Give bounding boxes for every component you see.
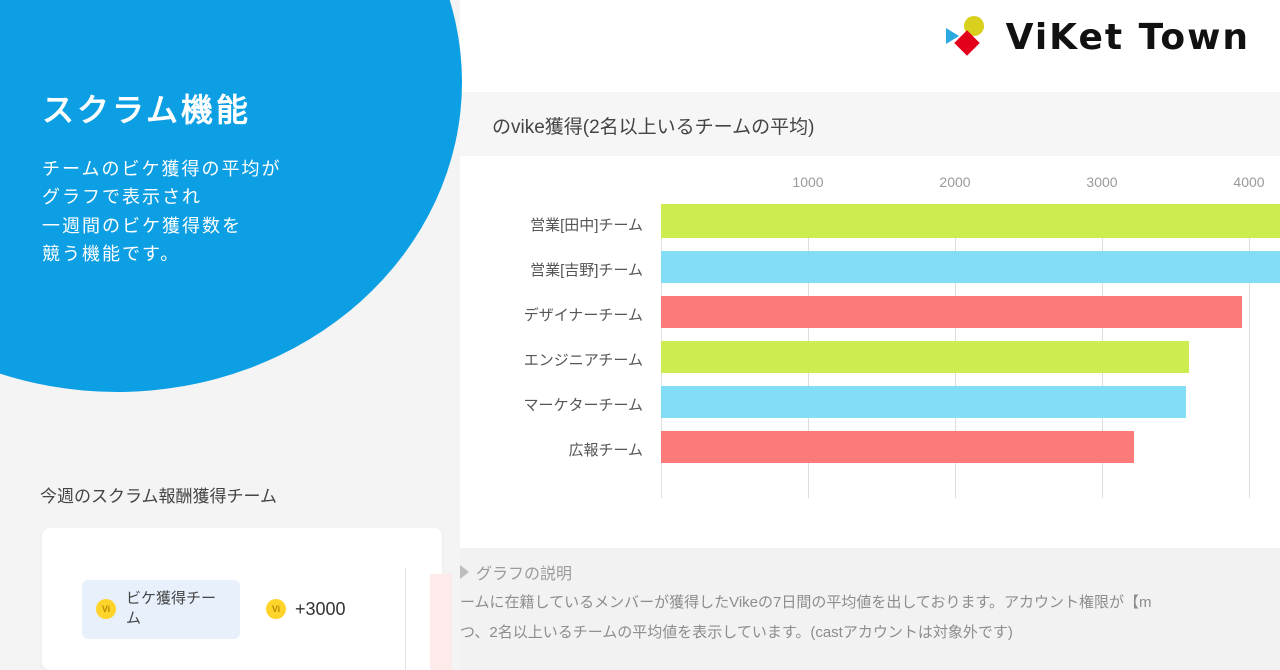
vike-coin-icon: Vi [96,599,116,619]
chart-bar [661,431,1134,463]
chart-bar [661,296,1242,328]
reward-amount-group: Vi +3000 [266,599,346,620]
chart-bar [661,341,1189,373]
reward-team-name: ビケ獲得チーム [126,589,226,630]
axis-tick-label: 2000 [939,174,970,190]
brand-logo[interactable]: ViKet Town [944,14,1250,60]
description-heading-row: グラフの説明 [460,560,1280,584]
chart-category-label: エンジニアチーム [524,349,643,370]
description-line-1: ームに在籍しているメンバーが獲得したVikeの7日間の平均値を出しております。ア… [460,591,1280,614]
logo-mark-icon [944,14,992,60]
overlay-line-3: 一週間のビケ獲得数を [42,212,442,240]
overlay-line-2: グラフで表示され [42,183,442,211]
overlay-line-1: チームのビケ獲得の平均が [42,155,442,183]
reward-secondary-strip [430,574,452,670]
chart-category-label: 営業[吉野]チーム [530,259,643,280]
chart-category-axis: 営業[田中]チーム営業[吉野]チームデザイナーチームエンジニアチームマーケターチ… [460,156,661,548]
reward-heading: 今週のスクラム報酬獲得チーム [40,482,277,507]
chart-plot-area: 営業[田中]チーム営業[吉野]チームデザイナーチームエンジニアチームマーケターチ… [460,156,1280,548]
chart-bar [661,386,1186,418]
chart-card: のvike獲得(2名以上いるチームの平均) 営業[田中]チーム営業[吉野]チーム… [460,92,1280,548]
vike-coin-icon: Vi [266,599,286,619]
overlay-line-4: 競う機能です。 [42,240,442,268]
graph-description: グラフの説明 ームに在籍しているメンバーが獲得したVikeの7日間の平均値を出し… [460,560,1280,645]
overlay-title: スクラム機能 [42,85,442,131]
chart-category-label: マーケターチーム [523,394,643,415]
reward-amount: +3000 [295,599,346,620]
gridline [1249,206,1250,498]
axis-tick-label: 1000 [792,174,823,190]
axis-tick-label: 4000 [1233,174,1264,190]
chart-category-label: 営業[田中]チーム [530,214,643,235]
chart-title: のvike獲得(2名以上いるチームの平均) [492,112,814,139]
brand-name: ViKet Town [1006,17,1250,58]
chart-bar [661,206,1280,238]
description-line-2: つ、2名以上いるチームの平均値を表示しています。(castアカウントは対象外です… [460,621,1280,644]
chart-value-axis: 1000200030004000 [661,156,1280,548]
chart-category-label: デザイナーチーム [524,304,643,325]
reward-card[interactable]: Vi ビケ獲得チーム Vi +3000 [42,528,442,670]
overlay-text-block: スクラム機能 チームのビケ獲得の平均が グラフで表示され 一週間のビケ獲得数を … [42,85,442,269]
description-heading: グラフの説明 [476,560,572,584]
chart-bar [661,251,1280,283]
axis-tick-label: 3000 [1086,174,1117,190]
caret-right-icon [460,565,469,579]
reward-row: Vi ビケ獲得チーム Vi +3000 [82,580,346,639]
reward-divider [405,568,406,670]
reward-team-pill[interactable]: Vi ビケ獲得チーム [82,580,240,639]
chart-category-label: 広報チーム [568,439,643,460]
